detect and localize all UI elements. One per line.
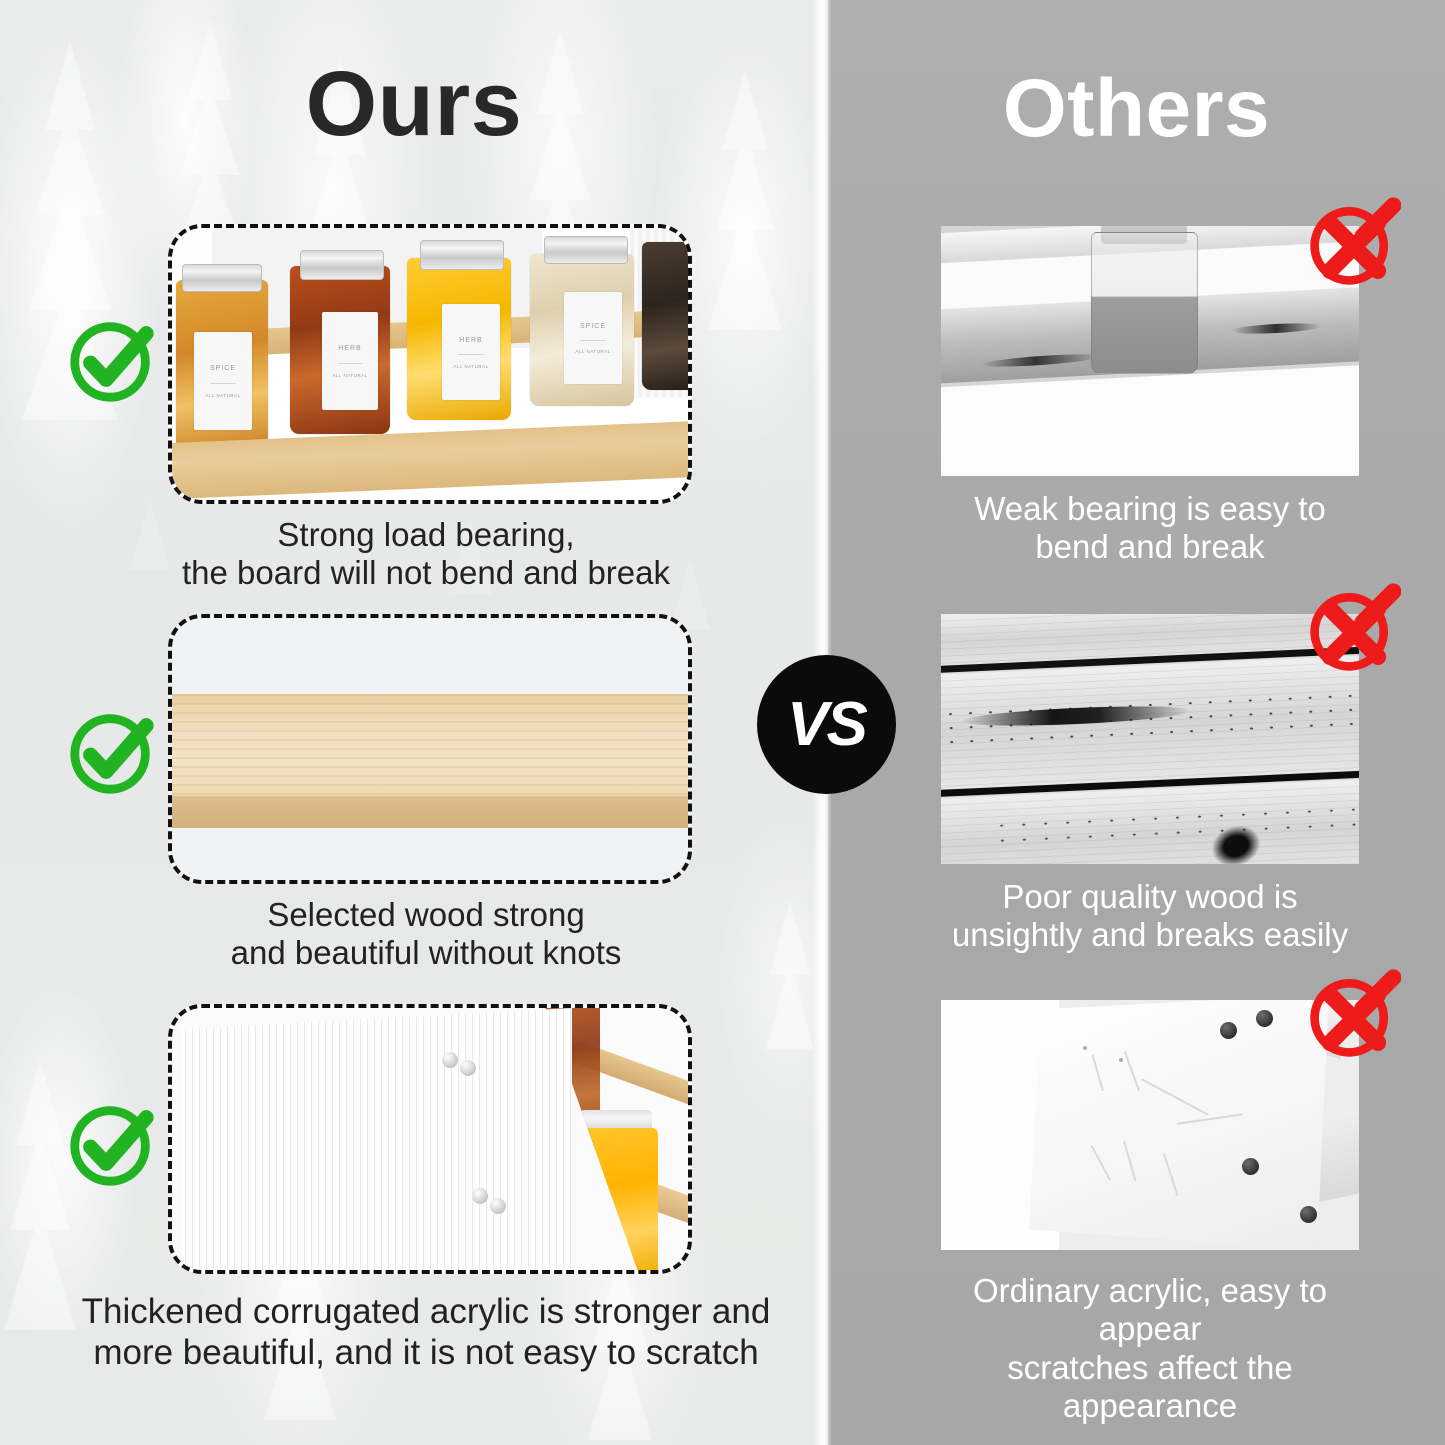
spice-jars-on-wood-shelf-photo: SPICE ALL NATURAL HERB ALL NATURAL HERB …	[168, 224, 692, 504]
others-item-3: Ordinary acrylic, easy to appear scratch…	[941, 1000, 1359, 1425]
ours-item-3: Thickened corrugated acrylic is stronger…	[168, 1004, 684, 1274]
comparison-infographic: Ours Others SPICE ALL NATURAL HERB ALL N…	[0, 0, 1445, 1445]
cross-circle-icon	[1305, 966, 1401, 1062]
page-title-others: Others	[828, 62, 1445, 156]
check-circle-icon	[64, 1094, 162, 1192]
ours-caption-1: Strong load bearing, the board will not …	[168, 516, 684, 593]
ours-caption-3: Thickened corrugated acrylic is stronger…	[58, 1292, 794, 1373]
jar-label-3: HERB ALL NATURAL	[442, 304, 500, 400]
cross-circle-icon	[1305, 194, 1401, 290]
ours-item-1: SPICE ALL NATURAL HERB ALL NATURAL HERB …	[168, 224, 684, 593]
clean-pine-board-photo	[168, 614, 692, 884]
jar-label-1: SPICE ALL NATURAL	[194, 332, 252, 430]
scratched-acrylic-grayscale-photo	[941, 1000, 1359, 1250]
corrugated-acrylic-panel-photo	[168, 1004, 692, 1274]
jar-label-4: SPICE ALL NATURAL	[564, 292, 622, 384]
vs-badge-label: VS	[757, 655, 896, 794]
knotty-wood-grayscale-photo	[941, 614, 1359, 864]
others-item-2: Poor quality wood is unsightly and break…	[941, 614, 1359, 955]
check-circle-icon	[64, 310, 162, 408]
others-caption-1: Weak bearing is easy to bend and break	[941, 490, 1359, 567]
ours-caption-2: Selected wood strong and beautiful witho…	[168, 896, 684, 973]
vs-badge: VS	[757, 655, 896, 794]
cross-circle-icon	[1305, 580, 1401, 676]
others-caption-2: Poor quality wood is unsightly and break…	[941, 878, 1359, 955]
others-caption-3: Ordinary acrylic, easy to appear scratch…	[941, 1272, 1359, 1425]
jar-label-2: HERB ALL NATURAL	[322, 312, 378, 410]
page-title-ours: Ours	[0, 52, 828, 157]
check-circle-icon	[64, 702, 162, 800]
bending-shelf-grayscale-photo	[941, 226, 1359, 476]
ours-item-2: Selected wood strong and beautiful witho…	[168, 614, 684, 973]
others-item-1: Weak bearing is easy to bend and break	[941, 226, 1359, 567]
